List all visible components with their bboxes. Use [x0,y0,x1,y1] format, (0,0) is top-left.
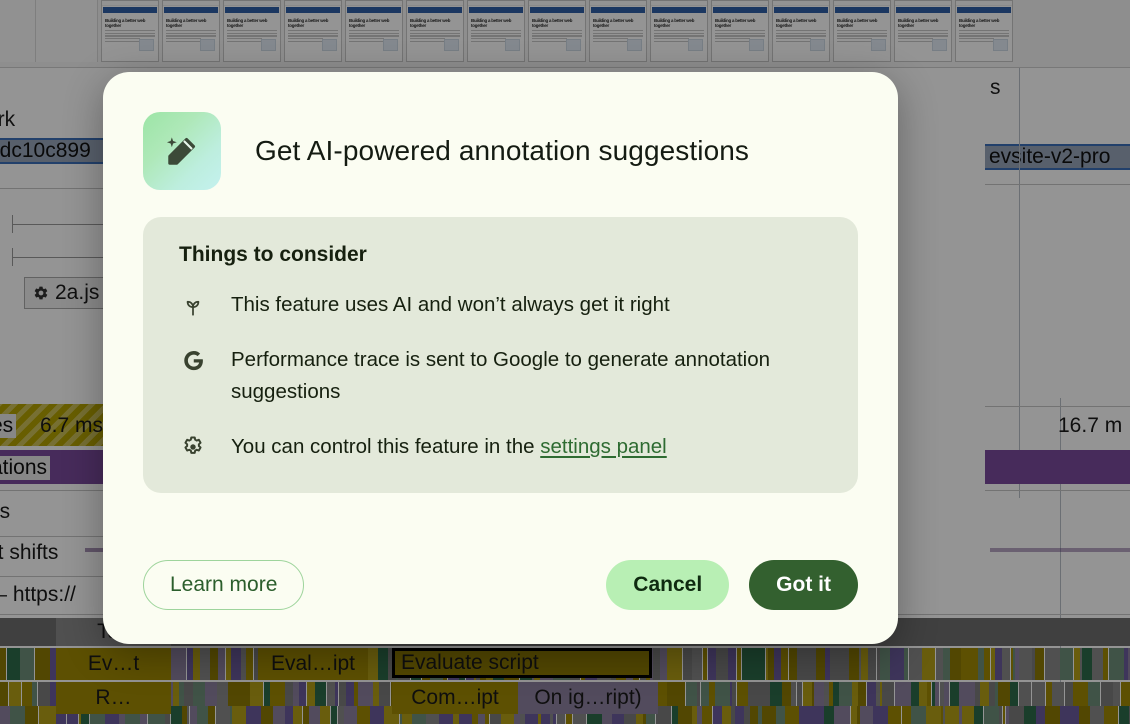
considerations-heading: Things to consider [179,243,822,267]
consideration-item-trace-sent: Performance trace is sent to Google to g… [179,344,822,408]
dialog-header: Get AI-powered annotation suggestions [143,112,858,190]
dialog-actions: Learn more Cancel Got it [143,560,858,610]
consideration-item-settings: You can control this feature in the sett… [179,431,822,463]
gear-icon [179,433,207,461]
learn-more-button[interactable]: Learn more [143,560,304,610]
cancel-button[interactable]: Cancel [606,560,729,610]
consideration-item-ai-accuracy: This feature uses AI and won’t always ge… [179,289,822,321]
ai-magic-pencil-icon [143,112,221,190]
dialog-title: Get AI-powered annotation suggestions [255,135,749,167]
sprout-icon [179,291,207,319]
got-it-button[interactable]: Got it [749,560,858,610]
consideration-text: Performance trace is sent to Google to g… [231,344,822,408]
screen: Building a better web togetherBuilding a… [0,0,1130,724]
consideration-text-before: You can control this feature in the [231,435,540,458]
google-g-icon [179,346,207,374]
consideration-text: You can control this feature in the sett… [231,431,667,463]
considerations-card: Things to consider This feature uses AI … [143,217,858,493]
settings-panel-link[interactable]: settings panel [540,435,667,458]
ai-annotation-suggestions-dialog: Get AI-powered annotation suggestions Th… [103,72,898,644]
consideration-text: This feature uses AI and won’t always ge… [231,289,670,321]
